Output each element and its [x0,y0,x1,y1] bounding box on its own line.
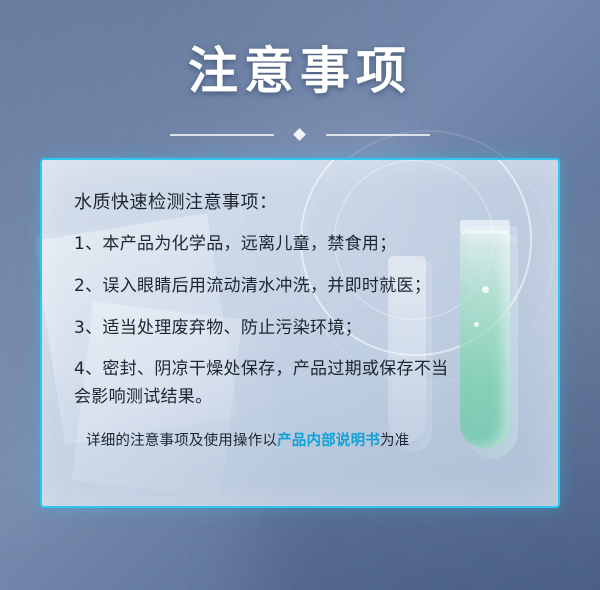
notice-heading: 水质快速检测注意事项： [74,188,528,214]
notice-card: 水质快速检测注意事项： 1、本产品为化学品，远离儿童，禁食用； 2、误入眼睛后用… [40,158,560,508]
diamond-icon [293,128,306,141]
page-title: 注意事项 [0,44,600,99]
notice-item: 2、误入眼睛后用流动清水冲洗，并即时就医； [74,274,528,300]
poster-root: 注意事项 水质快速检测注意事项： 1、本产品为化学品，远离儿童，禁食用； 2、误… [0,0,600,590]
notice-item: 3、适当处理废弃物、防止污染环境； [74,316,528,342]
title-divider-left-bar [170,134,274,136]
notice-footer: 详细的注意事项及使用操作以产品内部说明书为准 [86,429,528,450]
title-divider-right-bar [326,134,430,136]
notice-footer-prefix: 详细的注意事项及使用操作以 [86,433,277,449]
notice-item: 4、密封、阴凉干燥处保存，产品过期或保存不当 [74,357,528,383]
title-divider [0,128,600,142]
notice-footer-highlight: 产品内部说明书 [277,433,380,449]
card-content: 水质快速检测注意事项： 1、本产品为化学品，远离儿童，禁食用； 2、误入眼睛后用… [72,188,528,450]
notice-item-continuation: 会影响测试结果。 [74,385,528,411]
notice-footer-suffix: 为准 [380,433,409,449]
notice-item: 1、本产品为化学品，远离儿童，禁食用； [74,232,528,258]
title-block: 注意事项 [0,44,600,99]
